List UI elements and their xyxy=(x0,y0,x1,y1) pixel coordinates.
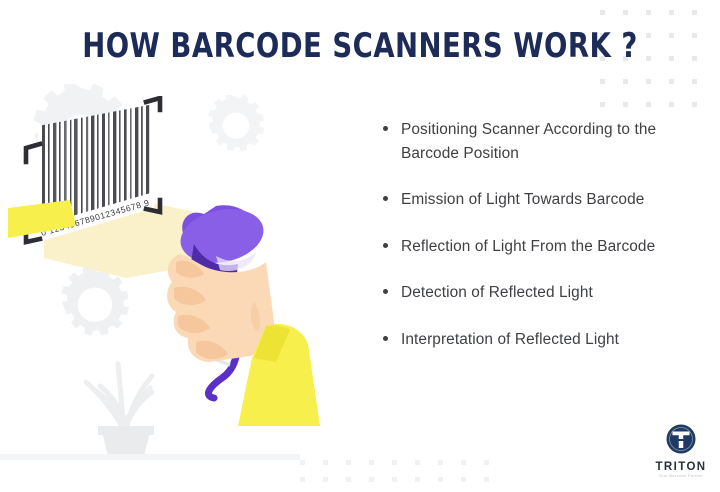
grid-dot xyxy=(484,477,489,482)
grid-dot xyxy=(646,79,651,84)
grid-dot xyxy=(438,460,443,465)
grid-dot xyxy=(484,460,489,465)
bullet-dot-icon xyxy=(383,289,388,294)
grid-dot xyxy=(692,33,697,38)
grid-dot xyxy=(346,460,351,465)
grid-dot xyxy=(600,102,605,107)
infographic-canvas: HOW BARCODE SCANNERS WORK ? xyxy=(0,0,720,492)
list-item: Detection of Reflected Light xyxy=(382,281,698,305)
list-item-label: Positioning Scanner According to the Bar… xyxy=(401,121,656,162)
list-item-label: Reflection of Light From the Barcode xyxy=(401,238,655,255)
grid-dot xyxy=(323,460,328,465)
grid-dot xyxy=(300,460,305,465)
grid-dot xyxy=(623,102,628,107)
grid-dot xyxy=(669,102,674,107)
list-item-label: Emission of Light Towards Barcode xyxy=(401,191,644,208)
list-item-label: Detection of Reflected Light xyxy=(401,284,593,301)
list-item: Emission of Light Towards Barcode xyxy=(382,188,698,212)
grid-dot xyxy=(669,10,674,15)
grid-dot xyxy=(669,79,674,84)
page-title: HOW BARCODE SCANNERS WORK ? xyxy=(36,26,684,66)
grid-dot xyxy=(623,10,628,15)
bullet-dot-icon xyxy=(383,336,388,341)
logo-wordmark: TRITON xyxy=(652,461,710,473)
grid-dot xyxy=(646,102,651,107)
grid-dot xyxy=(392,460,397,465)
grid-dot xyxy=(646,10,651,15)
triton-logo-icon xyxy=(666,424,696,454)
grid-dot xyxy=(415,477,420,482)
grid-dot xyxy=(346,477,351,482)
grid-dot xyxy=(692,10,697,15)
grid-dot xyxy=(392,477,397,482)
list-item-label: Interpretation of Reflected Light xyxy=(401,331,619,348)
grid-dot xyxy=(323,477,328,482)
grid-dot xyxy=(692,102,697,107)
steps-list: Positioning Scanner According to the Bar… xyxy=(382,118,698,351)
grid-dot xyxy=(300,477,305,482)
bullet-dot-icon xyxy=(383,126,388,131)
bullet-dot-icon xyxy=(383,243,388,248)
floor-line xyxy=(0,454,300,460)
grid-dot xyxy=(623,79,628,84)
list-item: Positioning Scanner According to the Bar… xyxy=(382,118,698,165)
grid-dot xyxy=(415,460,420,465)
dot-grid-bottom xyxy=(300,460,507,492)
grid-dot xyxy=(461,460,466,465)
grid-dot xyxy=(692,56,697,61)
grid-dot xyxy=(600,10,605,15)
list-item: Reflection of Light From the Barcode xyxy=(382,235,698,259)
grid-dot xyxy=(438,477,443,482)
bullet-dot-icon xyxy=(383,196,388,201)
brand-logo: TRITON Your Barcode Partner xyxy=(652,424,710,478)
logo-tagline: Your Barcode Partner xyxy=(652,474,710,478)
grid-dot xyxy=(600,79,605,84)
grid-dot xyxy=(461,477,466,482)
grid-dot xyxy=(369,477,374,482)
list-item: Interpretation of Reflected Light xyxy=(382,328,698,352)
scanner-illustration: 0 123456789012345678 9 xyxy=(8,96,368,426)
grid-dot xyxy=(692,79,697,84)
grid-dot xyxy=(369,460,374,465)
